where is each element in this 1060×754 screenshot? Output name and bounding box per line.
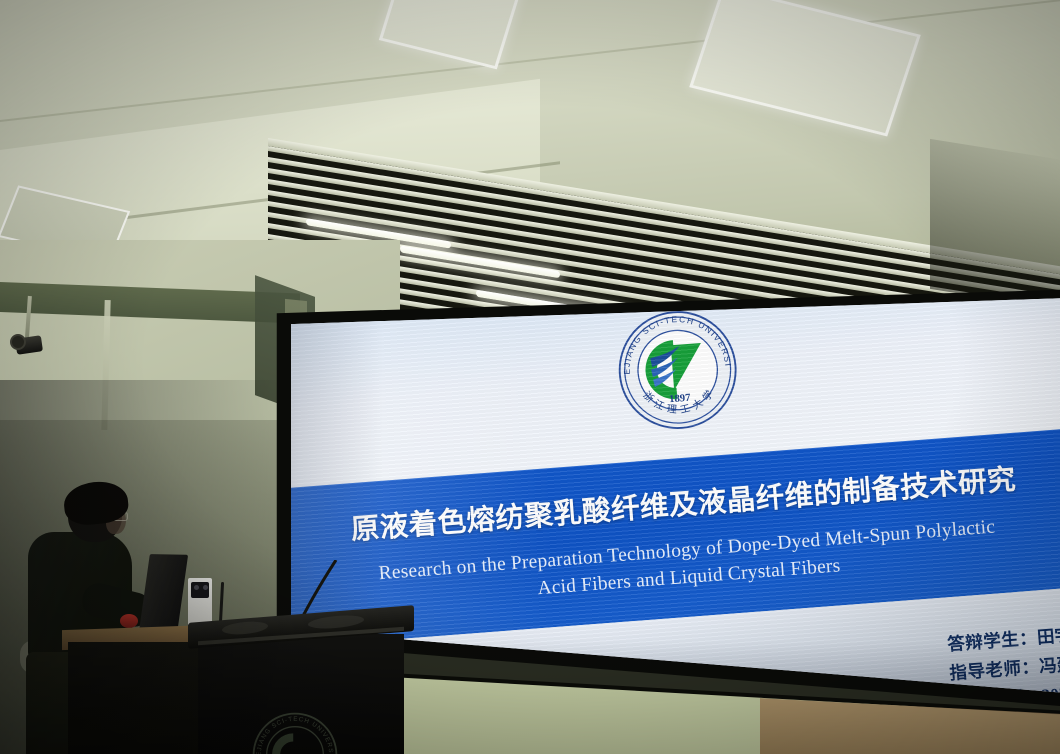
lectern-university-emblem: ZHEJIANG SCI-TECH UNIVERSITY: [250, 710, 340, 754]
camera-lens-icon: [10, 334, 26, 350]
meta-label-advisor: 指导老师：: [949, 658, 1040, 685]
red-object: [120, 614, 138, 628]
svg-text:ZHEJIANG SCI-TECH UNIVERSITY: ZHEJIANG SCI-TECH UNIVERSITY: [250, 710, 334, 754]
meta-label-student: 答辩学生：: [947, 629, 1038, 656]
microphone-led-icon: [194, 585, 199, 590]
meta-value-advisor: 冯建永: [1039, 653, 1060, 677]
room-photo-scene: ZHEJIANG SCI-TECH UNIVERSITY 浙江理工大学 1897: [0, 0, 1060, 754]
svg-text:1897: 1897: [669, 392, 692, 406]
meta-value-student: 田宇攀: [1037, 624, 1060, 648]
baffle-shadow: [930, 139, 1060, 311]
university-logo: ZHEJIANG SCI-TECH UNIVERSITY 浙江理工大学 1897: [610, 303, 745, 438]
lectern-podium: ZHEJIANG SCI-TECH UNIVERSITY: [188, 614, 414, 754]
microphone-led-icon: [203, 585, 208, 590]
